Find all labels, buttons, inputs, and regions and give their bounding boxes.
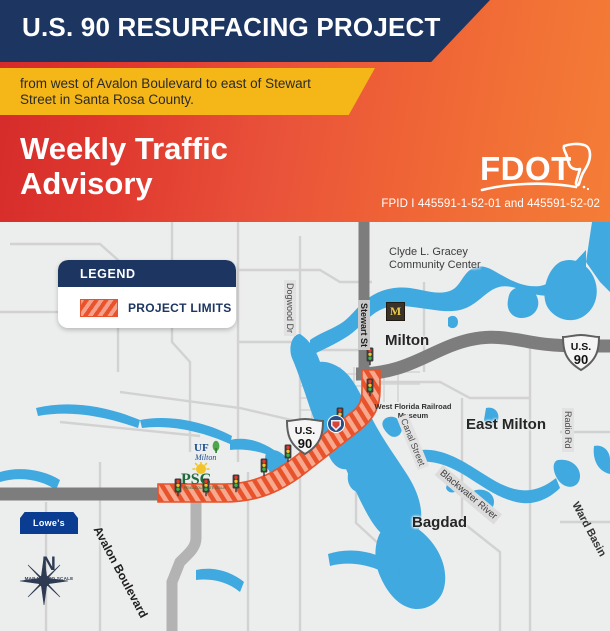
project-map[interactable]: LEGEND PROJECT LIMITS Milton East Milton…: [0, 222, 610, 631]
fpid-text: FPID I 445591-1-52-01 and 445591-52-02: [381, 198, 600, 210]
shield-route-number: 90: [285, 436, 325, 451]
svg-text:FDOT: FDOT: [480, 150, 572, 187]
route-shield-us-90-west: U.S. 90: [285, 418, 325, 456]
legend-item-label: PROJECT LIMITS: [128, 301, 232, 315]
brand-marker-lowes: Lowe's: [20, 512, 78, 534]
psc-logo-icon: PSC PENSACOLA STATE COLLEGE: [180, 462, 226, 490]
legend-heading: LEGEND: [58, 260, 236, 287]
street-label-radio-rd: Radio Rd: [562, 408, 574, 452]
compass-rose: N MAP NOT TO SCALE: [18, 555, 80, 581]
svg-text:Milton: Milton: [194, 453, 216, 462]
poi-label-west-florida-railroad-museum: West Florida Railroad Museum: [373, 402, 453, 420]
fdot-logo-svg: FDOT: [480, 140, 598, 196]
traffic-advisory-graphic: U.S. 90 RESURFACING PROJECT from west of…: [0, 0, 610, 631]
fdot-logo: FDOT: [480, 140, 598, 196]
street-label-dogwood-dr: Dogwood Dr: [284, 280, 296, 336]
advisory-heading: Weekly Traffic Advisory: [20, 131, 228, 201]
uf-milton-logo-icon: UF Milton: [194, 440, 236, 464]
page-title: U.S. 90 RESURFACING PROJECT: [22, 12, 441, 43]
compass-rose-icon: [18, 555, 70, 607]
brand-marker-uf-milton: UF Milton: [194, 440, 236, 464]
legend-item-project-limits: PROJECT LIMITS: [58, 287, 236, 328]
shield-route-number: 90: [561, 352, 601, 367]
city-label-bagdad: Bagdad: [412, 514, 467, 531]
advisory-line-1: Weekly Traffic: [20, 131, 228, 166]
city-label-milton: Milton: [385, 332, 429, 349]
svg-text:PENSACOLA STATE COLLEGE: PENSACOLA STATE COLLEGE: [184, 486, 226, 490]
brand-marker-milton-m: M: [386, 302, 405, 321]
advisory-line-2: Advisory: [20, 166, 228, 201]
project-subtitle: from west of Avalon Boulevard to east of…: [20, 76, 350, 108]
street-label-stewart-st: Stewart St: [358, 300, 370, 350]
point-of-interest-marker: [327, 415, 345, 433]
project-limits-swatch-icon: [80, 299, 118, 317]
poi-label-clyde-gracey-community-center: Clyde L. Gracey Community Center: [389, 246, 499, 272]
route-shield-us-90-east: U.S. 90: [561, 334, 601, 372]
brand-marker-psc: PSC PENSACOLA STATE COLLEGE: [180, 462, 226, 490]
banner: U.S. 90 RESURFACING PROJECT from west of…: [0, 0, 610, 222]
city-label-east-milton: East Milton: [466, 416, 546, 433]
legend-box: LEGEND PROJECT LIMITS: [58, 260, 236, 328]
